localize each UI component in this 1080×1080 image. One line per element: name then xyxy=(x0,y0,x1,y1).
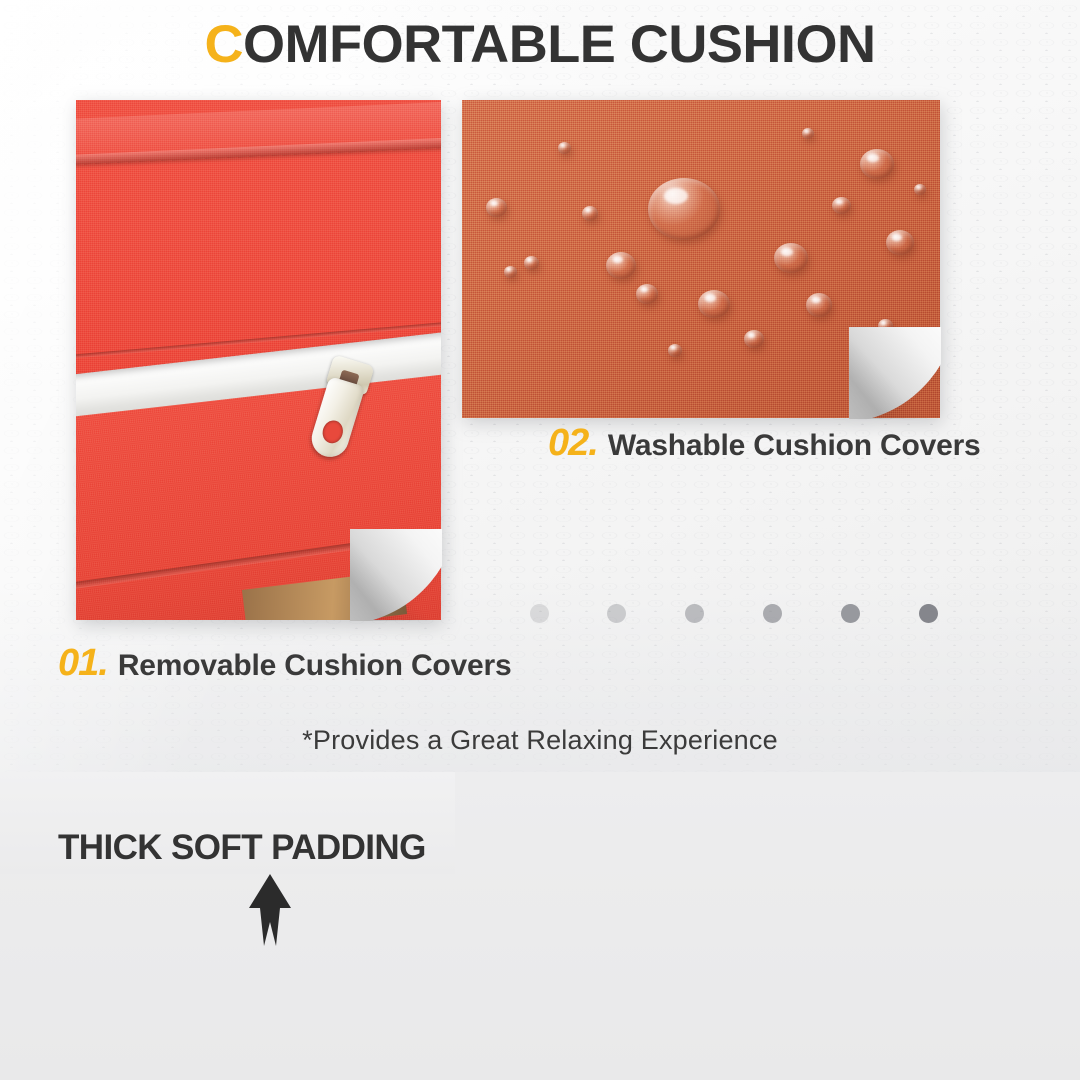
headline-rest: OMFORTABLE CUSHION xyxy=(243,15,875,74)
feature-number-01: 01. xyxy=(58,642,108,685)
water-droplet xyxy=(744,330,764,348)
water-droplet xyxy=(558,142,571,154)
water-droplet xyxy=(524,256,539,270)
lifestyle-section xyxy=(0,772,1080,1080)
feature-caption-01: 01. Removable Cushion Covers xyxy=(58,642,511,685)
features-section: COMFORTABLE CUSHION xyxy=(0,0,1080,772)
feature-number-02: 02. xyxy=(548,422,598,465)
water-droplet xyxy=(914,184,926,195)
progress-dots xyxy=(530,604,960,630)
progress-dot-3 xyxy=(685,604,704,623)
zipper-cushion-cover-photo xyxy=(76,100,441,620)
feature-label-01: Removable Cushion Covers xyxy=(118,649,512,683)
headline-accent-letter: C xyxy=(204,15,243,74)
water-droplet xyxy=(668,344,682,357)
water-droplet xyxy=(802,128,814,139)
water-droplet-large xyxy=(648,178,720,240)
water-beading-fabric-photo xyxy=(462,100,940,418)
water-droplet xyxy=(860,149,894,179)
zipper-tab xyxy=(307,376,365,461)
feature-label-02: Washable Cushion Covers xyxy=(608,429,981,463)
feature-caption-02: 02. Washable Cushion Covers xyxy=(548,422,981,465)
water-droplet xyxy=(698,290,730,318)
water-droplet xyxy=(806,293,832,317)
progress-dot-6 xyxy=(919,604,938,623)
water-droplet xyxy=(606,252,636,279)
water-droplet xyxy=(886,230,914,255)
subtitle-text: *Provides a Great Relaxing Experience xyxy=(0,725,1080,756)
photo-frame-right xyxy=(462,100,940,418)
water-droplet xyxy=(486,198,507,217)
zipper-tab-hole xyxy=(320,418,346,446)
water-droplet xyxy=(582,206,598,221)
water-droplet xyxy=(636,284,658,304)
progress-dot-5 xyxy=(841,604,860,623)
water-droplet xyxy=(774,243,808,273)
water-droplet xyxy=(878,319,893,333)
product-infographic-poster: COMFORTABLE CUSHION xyxy=(0,0,1080,1080)
progress-dot-2 xyxy=(607,604,626,623)
progress-dot-1 xyxy=(530,604,549,623)
thick-soft-padding-label: THICK SOFT PADDING xyxy=(58,828,426,868)
progress-dot-4 xyxy=(763,604,782,623)
photo-frame-left xyxy=(76,100,441,620)
up-arrow-icon xyxy=(247,874,293,946)
water-droplet xyxy=(504,266,517,278)
page-title: COMFORTABLE CUSHION xyxy=(0,14,1080,75)
water-droplet xyxy=(832,197,851,214)
